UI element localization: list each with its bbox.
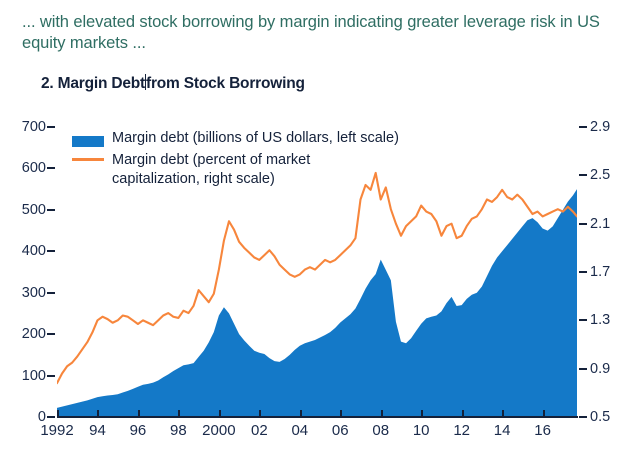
y-left-tick-label: 400 bbox=[22, 243, 46, 259]
legend-box-swatch bbox=[72, 129, 112, 147]
chart-area: 0100200300400500600700 0.50.91.31.72.12.… bbox=[0, 112, 640, 449]
y-left-tick-label: 300 bbox=[22, 285, 46, 301]
y-right-tick-mark bbox=[579, 126, 587, 128]
x-tick-label: 02 bbox=[251, 422, 268, 439]
x-tick-mark bbox=[97, 410, 99, 417]
legend-item: Margin debt (billions of US dollars, lef… bbox=[72, 129, 399, 148]
x-tick-label: 12 bbox=[453, 422, 470, 439]
legend-line-swatch bbox=[72, 151, 112, 161]
y-right-tick-mark bbox=[579, 174, 587, 176]
x-tick-label: 94 bbox=[89, 422, 106, 439]
x-tick-label: 10 bbox=[413, 422, 430, 439]
y-left-tick-mark bbox=[47, 292, 55, 294]
x-tick-label: 2000 bbox=[202, 422, 235, 439]
y-left-tick-label: 600 bbox=[22, 160, 46, 176]
chart-title-prefix: 2. Margin Debt bbox=[41, 75, 145, 93]
legend-item-label: Margin debt (percent of market capitaliz… bbox=[112, 151, 310, 189]
x-tick-mark bbox=[259, 410, 261, 417]
chart-title: 2. Margin Debt from Stock Borrowing bbox=[41, 72, 305, 93]
x-tick-mark bbox=[219, 410, 221, 417]
area-color-swatch bbox=[72, 136, 104, 147]
y-right-tick-label: 2.5 bbox=[590, 167, 610, 183]
y-left-tick-label: 700 bbox=[22, 119, 46, 135]
y-right-tick-mark bbox=[579, 271, 587, 273]
x-tick-mark bbox=[502, 410, 504, 417]
y-left-tick-mark bbox=[47, 250, 55, 252]
x-tick-mark bbox=[462, 410, 464, 417]
y-left-tick-mark bbox=[47, 209, 55, 211]
x-tick-mark bbox=[340, 410, 342, 417]
x-tick-label: 98 bbox=[170, 422, 187, 439]
y-right-tick-mark bbox=[579, 319, 587, 321]
x-tick-label: 1992 bbox=[40, 422, 73, 439]
x-axis-line bbox=[57, 416, 578, 418]
y-left-tick-mark bbox=[47, 333, 55, 335]
legend-item-label: Margin debt (billions of US dollars, lef… bbox=[112, 129, 399, 148]
line-color-swatch bbox=[72, 158, 104, 161]
x-tick-label: 06 bbox=[332, 422, 349, 439]
x-tick-label: 16 bbox=[534, 422, 551, 439]
y-right-tick-label: 1.7 bbox=[590, 264, 610, 280]
y-left-tick-mark bbox=[47, 416, 55, 418]
y-left-tick-mark bbox=[47, 375, 55, 377]
chart-legend: Margin debt (billions of US dollars, lef… bbox=[72, 129, 399, 192]
x-tick-label: 04 bbox=[291, 422, 308, 439]
margin-debt-area-series bbox=[57, 189, 577, 417]
y-right-tick-label: 0.5 bbox=[590, 409, 610, 425]
y-right-tick-label: 0.9 bbox=[590, 361, 610, 377]
y-right-tick-mark bbox=[579, 416, 587, 418]
lead-in-text: ... with elevated stock borrowing by mar… bbox=[22, 12, 622, 54]
x-tick-label: 96 bbox=[130, 422, 147, 439]
x-tick-mark bbox=[178, 410, 180, 417]
chart-title-suffix: from Stock Borrowing bbox=[146, 75, 305, 93]
y-right-tick-mark bbox=[579, 368, 587, 370]
x-tick-mark bbox=[57, 410, 59, 417]
y-left-tick-mark bbox=[47, 126, 55, 128]
y-left-tick-mark bbox=[47, 167, 55, 169]
y-left-tick-label: 500 bbox=[22, 202, 46, 218]
y-right-tick-label: 2.1 bbox=[590, 216, 610, 232]
x-tick-mark bbox=[300, 410, 302, 417]
x-tick-label: 14 bbox=[494, 422, 511, 439]
x-tick-mark bbox=[138, 410, 140, 417]
x-tick-label: 08 bbox=[372, 422, 389, 439]
x-tick-mark bbox=[381, 410, 383, 417]
y-left-tick-label: 100 bbox=[22, 368, 46, 384]
chart-page: ... with elevated stock borrowing by mar… bbox=[0, 0, 640, 449]
y-right-tick-label: 1.3 bbox=[590, 312, 610, 328]
y-left-tick-label: 200 bbox=[22, 326, 46, 342]
x-tick-mark bbox=[421, 410, 423, 417]
y-right-tick-mark bbox=[579, 223, 587, 225]
legend-item: Margin debt (percent of market capitaliz… bbox=[72, 151, 399, 189]
x-tick-mark bbox=[543, 410, 545, 417]
text-cursor-caret bbox=[145, 74, 146, 90]
y-right-tick-label: 2.9 bbox=[590, 119, 610, 135]
